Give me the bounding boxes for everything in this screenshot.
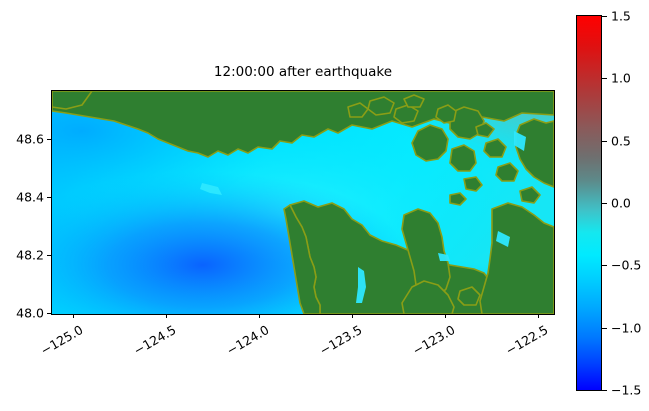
y-tick-label: 48.2 — [16, 248, 44, 263]
map-axes[interactable] — [51, 90, 555, 315]
colorbar-tick-mark — [602, 16, 607, 17]
colorbar-tick-label: 1.0 — [611, 71, 631, 86]
y-tick-mark — [47, 313, 51, 314]
x-tick-label: −123.5 — [270, 322, 364, 385]
colorbar-tick-mark — [602, 203, 607, 204]
page-title: 12:00:00 after earthquake — [51, 62, 555, 82]
y-tick-label: 48.6 — [16, 132, 44, 147]
x-tick-mark — [352, 314, 353, 318]
y-tick-mark — [47, 197, 51, 198]
y-tick-label: 48.0 — [16, 306, 44, 321]
x-tick-mark — [73, 314, 74, 318]
colorbar-tick-mark — [602, 265, 607, 266]
x-tick-label: −123.0 — [363, 322, 457, 385]
colorbar-tick-label: 1.5 — [611, 9, 631, 24]
colorbar-tick-label: 0.0 — [611, 196, 631, 211]
x-tick-label: −124.0 — [177, 322, 271, 385]
colorbar-tick-label: −1.0 — [611, 321, 641, 336]
colorbar-tick-label: −0.5 — [611, 258, 641, 273]
colorbar-tick-mark — [602, 390, 607, 391]
colorbar-tick-mark — [602, 328, 607, 329]
y-tick-mark — [47, 139, 51, 140]
colorbar-tick-label: −1.5 — [611, 383, 641, 398]
x-tick-mark — [259, 314, 260, 318]
colorbar-tick-mark — [602, 78, 607, 79]
colorbar-tick-label: 0.5 — [611, 134, 631, 149]
x-tick-label: −124.5 — [84, 322, 178, 385]
y-tick-mark — [47, 255, 51, 256]
x-tick-mark — [166, 314, 167, 318]
x-tick-mark — [445, 314, 446, 318]
colorbar[interactable]: 1.5 1.0 0.5 0.0 −0.5 −1.0 −1.5 — [576, 15, 602, 391]
figure-canvas: 12:00:00 after earthquake — [0, 0, 649, 411]
heatmap-image — [52, 91, 554, 314]
colorbar-tick-mark — [602, 141, 607, 142]
colorbar-gradient — [576, 15, 602, 391]
y-tick-label: 48.4 — [16, 190, 44, 205]
x-tick-label: −122.5 — [456, 322, 550, 385]
x-tick-mark — [538, 314, 539, 318]
